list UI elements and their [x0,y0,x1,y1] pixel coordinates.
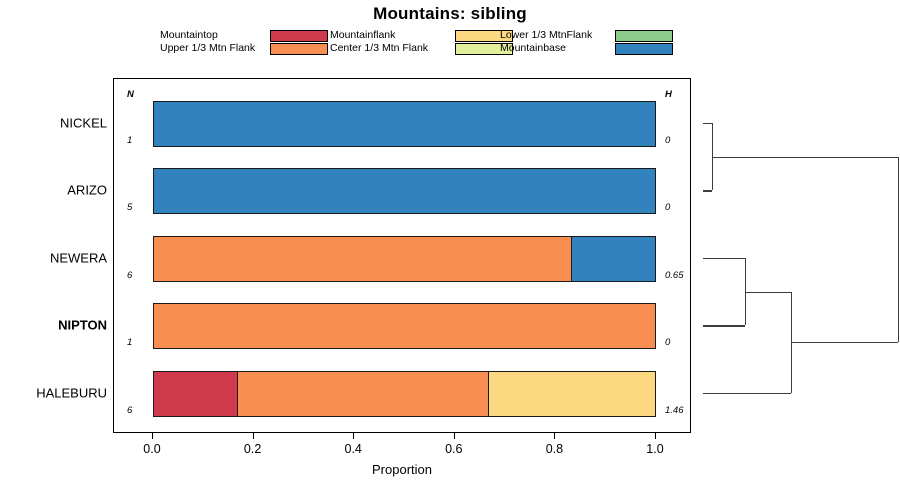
dendrogram-leaf-arizo [703,190,712,191]
bar-segment [154,102,655,146]
n-column-header: N [127,89,134,100]
h-value: 0 [665,135,670,146]
legend-swatch-upper-third-mtn-flank [270,43,328,55]
bar-segment [154,372,237,416]
x-axis-tick [655,433,656,439]
x-axis-tick [253,433,254,439]
dendrogram [691,78,900,433]
dendrogram-leaf-haleburu [703,393,791,394]
stacked-bar [153,168,656,214]
dendrogram-branch [712,157,898,158]
legend-label: Mountainflank [330,29,395,42]
n-value: 6 [127,270,132,281]
n-value: 6 [127,405,132,416]
y-axis-label-haleburu: HALEBURU [0,385,107,400]
h-value: 0 [665,337,670,348]
dendrogram-leaf-nipton [703,325,745,326]
dendrogram-branch [745,292,791,293]
dendrogram-leaf-nickel [703,123,712,124]
dendrogram-branch [791,342,898,343]
plot-panel: 105060.651061.46NH [113,78,691,433]
x-axis-tick [353,433,354,439]
bar-segment [571,237,656,281]
h-value: 1.46 [665,405,684,416]
stacked-bar [153,236,656,282]
h-value: 0 [665,202,670,213]
bar-segment [488,372,655,416]
legend-label: Upper 1/3 Mtn Flank [160,42,255,55]
x-axis-tick-label: 0.8 [546,442,563,456]
y-axis-label-newera: NEWERA [0,250,107,265]
x-axis-tick [454,433,455,439]
x-axis-tick [554,433,555,439]
bar-segment [154,169,655,213]
y-axis-label-arizo: ARIZO [0,183,107,198]
n-value: 1 [127,135,132,146]
h-column-header: H [665,89,672,100]
chart-root: Mountains: sibling Mountaintop Upper 1/3… [0,0,900,500]
x-axis-tick-label: 0.4 [344,442,361,456]
legend-label: Lower 1/3 MtnFlank [500,29,592,42]
bar-segment [154,304,655,348]
stacked-bar [153,371,656,417]
y-axis-label-nipton: NIPTON [0,318,107,333]
n-value: 5 [127,202,132,213]
x-axis-tick [152,433,153,439]
h-value: 0.65 [665,270,684,281]
legend-item[interactable]: Mountainbase [500,42,750,56]
legend-label: Mountaintop [160,29,218,42]
x-axis-tick-label: 1.0 [646,442,663,456]
page-title: Mountains: sibling [0,4,900,24]
stacked-bar [153,303,656,349]
legend-item[interactable]: Lower 1/3 MtnFlank [500,29,750,43]
legend-swatch-mountaintop [270,30,328,42]
stacked-bar [153,101,656,147]
y-axis-labels: NICKELARIZONEWERANIPTONHALEBURU [0,78,107,433]
y-axis-label-nickel: NICKEL [0,116,107,131]
legend-label: Center 1/3 Mtn Flank [330,42,428,55]
bar-segment [237,372,488,416]
bar-segment [154,237,571,281]
x-axis-tick-label: 0.2 [244,442,261,456]
legend-swatch-mountainbase [615,43,673,55]
legend-label: Mountainbase [500,42,566,55]
x-axis-tick-label: 0.6 [445,442,462,456]
n-value: 1 [127,337,132,348]
legend: Mountaintop Upper 1/3 Mtn Flank Mountain… [160,29,720,59]
legend-swatch-lower-third-mtn-flank [615,30,673,42]
x-axis-title: Proportion [113,462,691,477]
dendrogram-root [898,157,899,342]
x-axis-tick-label: 0.0 [143,442,160,456]
dendrogram-leaf-newera [703,258,745,259]
x-axis: 0.00.20.40.60.81.0 [113,433,691,434]
